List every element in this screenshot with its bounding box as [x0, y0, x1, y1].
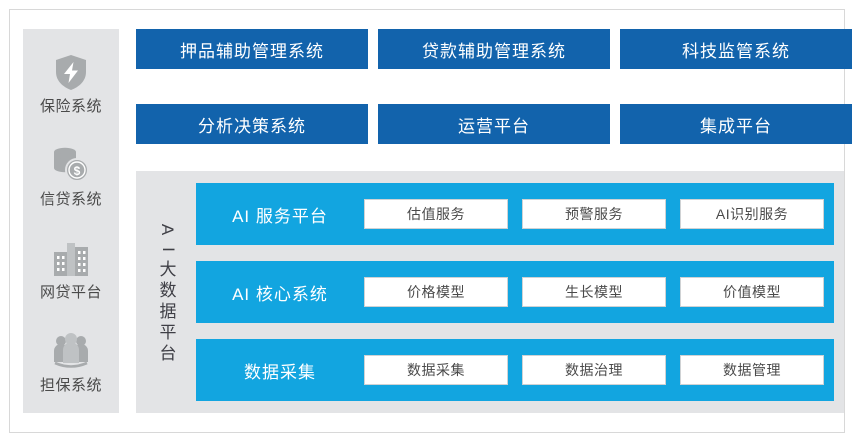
ai-bigdata-platform-panel: A I 大 数 据 平 台 AI 服务平台 估值服务 预警服务 AI识别服务 A…	[136, 171, 844, 413]
row-chips: 估值服务 预警服务 AI识别服务	[364, 199, 824, 229]
vertical-char-4: 台	[160, 344, 177, 364]
system-bar-operations-platform[interactable]: 运营平台	[378, 104, 610, 144]
chip-data-governance[interactable]: 数据治理	[522, 355, 666, 385]
sidebar-item-label: 担保系统	[40, 378, 102, 393]
platform-vertical-title: A I 大 数 据 平 台	[146, 183, 190, 401]
buildings-icon	[49, 236, 93, 280]
chip-valuation-service[interactable]: 估值服务	[364, 199, 508, 229]
system-bar-collateral[interactable]: 押品辅助管理系统	[136, 29, 368, 69]
row-title: 数据采集	[196, 358, 364, 383]
svg-text:$: $	[74, 164, 81, 178]
chip-ai-recognition-service[interactable]: AI识别服务	[680, 199, 824, 229]
coins-dollar-icon: $	[49, 143, 93, 187]
vertical-char-2: 据	[160, 302, 177, 322]
shield-bolt-icon	[49, 50, 93, 94]
platform-row-ai-core: AI 核心系统 价格模型 生长模型 价值模型	[196, 261, 834, 323]
sidebar-item-online-loan[interactable]: 网贷平台	[23, 236, 119, 300]
row-title: AI 服务平台	[196, 202, 364, 227]
system-bar-tech-supervision[interactable]: 科技监管系统	[620, 29, 852, 69]
system-bar-loan[interactable]: 贷款辅助管理系统	[378, 29, 610, 69]
people-group-icon	[49, 329, 93, 373]
sidebar: 保险系统 $ 信贷系统	[23, 29, 119, 413]
chip-data-collection[interactable]: 数据采集	[364, 355, 508, 385]
vertical-char-A: A	[160, 224, 177, 235]
sidebar-item-label: 信贷系统	[40, 192, 102, 207]
chip-data-management[interactable]: 数据管理	[680, 355, 824, 385]
row-chips: 价格模型 生长模型 价值模型	[364, 277, 824, 307]
chip-price-model[interactable]: 价格模型	[364, 277, 508, 307]
sidebar-item-label: 保险系统	[40, 99, 102, 114]
chip-value-model[interactable]: 价值模型	[680, 277, 824, 307]
sidebar-item-label: 网贷平台	[40, 285, 102, 300]
system-bar-integration-platform[interactable]: 集成平台	[620, 104, 852, 144]
sidebar-item-insurance[interactable]: 保险系统	[23, 50, 119, 114]
platform-rows: AI 服务平台 估值服务 预警服务 AI识别服务 AI 核心系统 价格模型 生长…	[196, 183, 834, 401]
vertical-char-0: 大	[160, 260, 177, 280]
platform-row-ai-service: AI 服务平台 估值服务 预警服务 AI识别服务	[196, 183, 834, 245]
chip-alert-service[interactable]: 预警服务	[522, 199, 666, 229]
platform-row-data-collection: 数据采集 数据采集 数据治理 数据管理	[196, 339, 834, 401]
system-bar-analysis-decision[interactable]: 分析决策系统	[136, 104, 368, 144]
top-bar-row-1: 押品辅助管理系统 贷款辅助管理系统 科技监管系统	[136, 29, 852, 69]
vertical-char-3: 平	[160, 323, 177, 343]
row-chips: 数据采集 数据治理 数据管理	[364, 355, 824, 385]
chip-growth-model[interactable]: 生长模型	[522, 277, 666, 307]
vertical-char-1: 数	[160, 281, 177, 301]
sidebar-item-credit[interactable]: $ 信贷系统	[23, 143, 119, 207]
top-bar-row-2: 分析决策系统 运营平台 集成平台	[136, 104, 852, 144]
diagram-frame: 保险系统 $ 信贷系统	[9, 9, 845, 433]
vertical-char-I: I	[159, 247, 176, 252]
sidebar-item-guarantee[interactable]: 担保系统	[23, 329, 119, 393]
row-title: AI 核心系统	[196, 280, 364, 305]
